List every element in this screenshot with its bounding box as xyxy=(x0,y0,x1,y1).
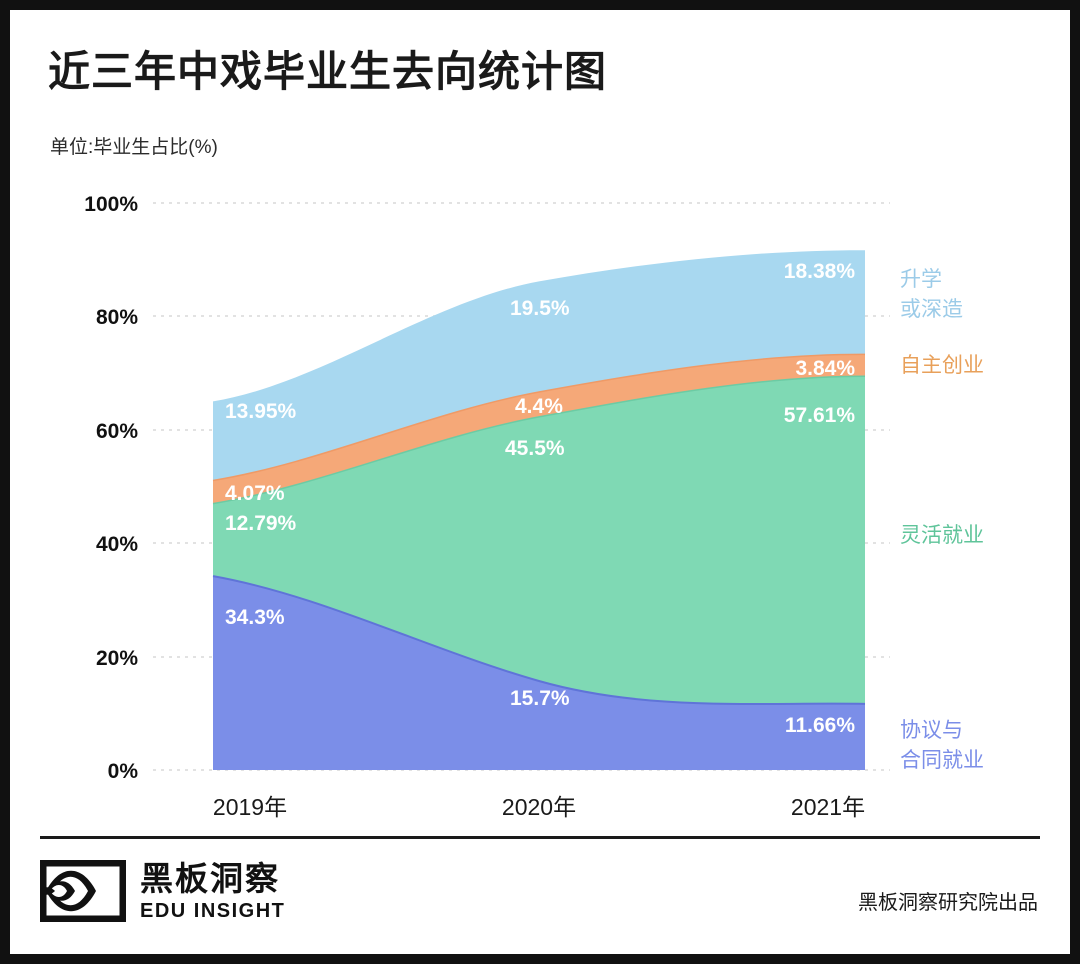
y-tick-20: 20% xyxy=(96,647,138,670)
y-tick-60: 60% xyxy=(96,420,138,443)
x-axis-ticks: 2019年 2020年 2021年 xyxy=(213,794,865,820)
label-自主创业-2019: 4.07% xyxy=(225,482,285,505)
y-tick-40: 40% xyxy=(96,533,138,556)
y-tick-80: 80% xyxy=(96,306,138,329)
y-tick-0: 0% xyxy=(108,760,139,783)
legend-item-灵活就业[interactable]: 灵活就业 xyxy=(900,524,984,547)
brand-logo: 黑板洞察 EDU INSIGHT xyxy=(40,860,285,922)
label-灵活就业-2021: 57.61% xyxy=(784,404,856,427)
label-协议与合同就业-2021: 11.66% xyxy=(785,714,855,737)
eye-logo-icon xyxy=(40,860,126,922)
x-tick-2020: 2020年 xyxy=(502,794,576,820)
x-tick-2019: 2019年 xyxy=(213,794,287,820)
x-tick-2021: 2021年 xyxy=(791,794,865,820)
legend-item-协议与合同就业-line2[interactable]: 合同就业 xyxy=(900,749,984,772)
y-axis-ticks: 100% 80% 60% 40% 20% 0% xyxy=(84,193,138,783)
label-自主创业-2021: 3.84% xyxy=(795,357,855,380)
legend-item-协议与合同就业-line1[interactable]: 协议与 xyxy=(900,719,963,742)
label-灵活就业-2019: 12.79% xyxy=(225,512,297,535)
chart-card: 近三年中戏毕业生去向统计图 单位:毕业生占比(%) 100% 80% 60% 4… xyxy=(10,10,1070,954)
stacked-area-chart: 100% 80% 60% 40% 20% 0% 13.95% 4.07% 12.… xyxy=(10,170,1070,830)
footer-divider xyxy=(40,836,1040,839)
legend-item-升学或深造-line2[interactable]: 或深造 xyxy=(900,298,963,321)
chart-area: 100% 80% 60% 40% 20% 0% 13.95% 4.07% 12.… xyxy=(10,170,1070,830)
y-tick-100: 100% xyxy=(84,193,138,216)
label-协议与合同就业-2019: 34.3% xyxy=(225,606,285,629)
label-协议与合同就业-2020: 15.7% xyxy=(510,687,570,710)
label-灵活就业-2020: 45.5% xyxy=(505,437,565,460)
label-升学或深造-2019: 13.95% xyxy=(225,400,297,423)
label-自主创业-2020: 4.4% xyxy=(515,395,563,418)
chart-subtitle: 单位:毕业生占比(%) xyxy=(50,132,218,159)
brand-name-en: EDU INSIGHT xyxy=(140,901,285,921)
label-升学或深造-2020: 19.5% xyxy=(510,297,570,320)
brand-name-cn: 黑板洞察 xyxy=(140,862,285,895)
legend-item-升学或深造-line1[interactable]: 升学 xyxy=(900,268,942,291)
footer-credit: 黑板洞察研究院出品 xyxy=(858,886,1038,915)
brand-wordmark: 黑板洞察 EDU INSIGHT xyxy=(140,862,285,921)
legend-item-自主创业[interactable]: 自主创业 xyxy=(900,354,984,377)
legend: 升学 或深造 自主创业 灵活就业 协议与 合同就业 xyxy=(900,268,984,772)
page-title: 近三年中戏毕业生去向统计图 xyxy=(48,38,607,99)
label-升学或深造-2021: 18.38% xyxy=(784,260,856,283)
footer: 黑板洞察 EDU INSIGHT 黑板洞察研究院出品 xyxy=(10,850,1070,954)
